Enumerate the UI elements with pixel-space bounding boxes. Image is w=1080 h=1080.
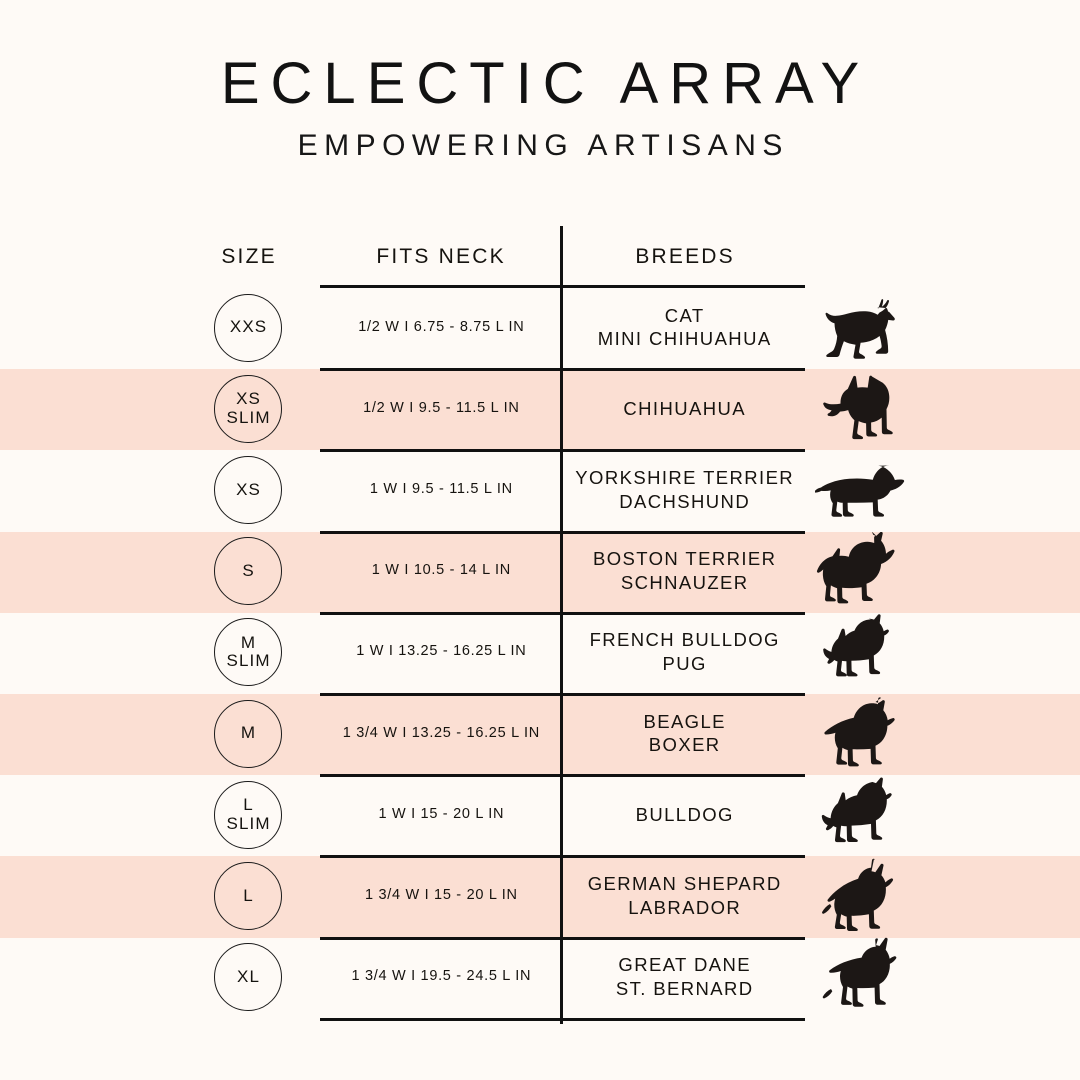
cat-silhouette bbox=[815, 290, 911, 366]
breeds-value: FRENCH BULLDOGPUG bbox=[563, 628, 805, 675]
fits-neck-value: 1 3/4 W I 15 - 20 L IN bbox=[322, 887, 560, 903]
schnauzer-silhouette bbox=[815, 533, 911, 609]
size-badge: XXS bbox=[214, 294, 282, 362]
size-label-primary: L bbox=[242, 887, 254, 905]
breed-line: LABRADOR bbox=[563, 896, 805, 920]
size-label-secondary: SLIM bbox=[225, 652, 270, 670]
breeds-value: BULLDOG bbox=[563, 803, 805, 827]
size-badge: LSLIM bbox=[214, 781, 282, 849]
chihuahua-silhouette bbox=[815, 371, 911, 447]
size-badge: S bbox=[214, 537, 282, 605]
size-label-primary: XS bbox=[235, 390, 261, 408]
table-row: XS1 W I 9.5 - 11.5 L INYORKSHIRE TERRIER… bbox=[0, 449, 1080, 530]
table-row: M1 3/4 W I 13.25 - 16.25 L INBEAGLEBOXER bbox=[0, 693, 1080, 774]
size-label-primary: XXS bbox=[229, 318, 267, 336]
breed-line: CAT bbox=[563, 304, 805, 328]
table-row: LSLIM1 W I 15 - 20 L INBULLDOG bbox=[0, 774, 1080, 855]
row-rule bbox=[320, 937, 805, 940]
breed-line: MINI CHIHUAHUA bbox=[563, 327, 805, 351]
breeds-value: CHIHUAHUA bbox=[563, 397, 805, 421]
size-badge: M bbox=[214, 700, 282, 768]
boxer-silhouette bbox=[815, 696, 911, 772]
breed-line: GERMAN SHEPARD bbox=[563, 872, 805, 896]
row-rule bbox=[320, 368, 805, 371]
breeds-value: YORKSHIRE TERRIERDACHSHUND bbox=[563, 466, 805, 513]
breed-line: DACHSHUND bbox=[563, 490, 805, 514]
column-header-breeds: BREEDS bbox=[563, 245, 805, 269]
breed-line: GREAT DANE bbox=[563, 953, 805, 977]
row-rule bbox=[320, 612, 805, 615]
great-dane-silhouette bbox=[815, 939, 911, 1015]
size-label-primary: XS bbox=[235, 481, 261, 499]
size-label-primary: L bbox=[242, 796, 254, 814]
breed-line: SCHNAUZER bbox=[563, 571, 805, 595]
breed-line: FRENCH BULLDOG bbox=[563, 628, 805, 652]
fits-neck-value: 1 3/4 W I 19.5 - 24.5 L IN bbox=[322, 968, 560, 984]
fits-neck-value: 1 3/4 W I 13.25 - 16.25 L IN bbox=[322, 725, 560, 741]
german-shepherd-silhouette bbox=[815, 858, 911, 934]
table-row: L1 3/4 W I 15 - 20 L INGERMAN SHEPARDLAB… bbox=[0, 855, 1080, 936]
table-row: XXS1/2 W I 6.75 - 8.75 L INCATMINI CHIHU… bbox=[0, 287, 1080, 368]
breed-line: CHIHUAHUA bbox=[563, 397, 805, 421]
size-label-primary: XL bbox=[236, 968, 260, 986]
breed-line: YORKSHIRE TERRIER bbox=[563, 466, 805, 490]
row-rule bbox=[320, 855, 805, 858]
breeds-value: GERMAN SHEPARDLABRADOR bbox=[563, 872, 805, 919]
row-rule bbox=[320, 449, 805, 452]
fits-neck-value: 1 W I 10.5 - 14 L IN bbox=[322, 562, 560, 578]
size-label-secondary: SLIM bbox=[225, 815, 270, 833]
breeds-value: BOSTON TERRIERSCHNAUZER bbox=[563, 547, 805, 594]
size-chart-page: ECLECTIC ARRAY EMPOWERING ARTISANS SIZE … bbox=[0, 0, 1080, 1080]
breed-line: BULLDOG bbox=[563, 803, 805, 827]
size-chart-table: SIZE FITS NECK BREEDS XXS1/2 W I 6.75 - … bbox=[0, 0, 1080, 1080]
fits-neck-value: 1/2 W I 6.75 - 8.75 L IN bbox=[322, 319, 560, 335]
fits-neck-value: 1 W I 15 - 20 L IN bbox=[322, 806, 560, 822]
size-label-secondary: SLIM bbox=[225, 409, 270, 427]
size-label-primary: M bbox=[240, 634, 256, 652]
breeds-value: BEAGLEBOXER bbox=[563, 710, 805, 757]
breed-line: BOXER bbox=[563, 733, 805, 757]
fits-neck-value: 1 W I 13.25 - 16.25 L IN bbox=[322, 643, 560, 659]
fits-neck-value: 1 W I 9.5 - 11.5 L IN bbox=[322, 481, 560, 497]
size-label-primary: S bbox=[241, 562, 255, 580]
size-badge: XL bbox=[214, 943, 282, 1011]
size-badge: L bbox=[214, 862, 282, 930]
breeds-value: GREAT DANEST. BERNARD bbox=[563, 953, 805, 1000]
row-rule bbox=[320, 693, 805, 696]
dachshund-silhouette bbox=[815, 452, 911, 528]
size-badge: MSLIM bbox=[214, 618, 282, 686]
size-label-primary: M bbox=[240, 724, 256, 742]
table-row: XL1 3/4 W I 19.5 - 24.5 L INGREAT DANEST… bbox=[0, 937, 1080, 1018]
row-rule bbox=[320, 531, 805, 534]
breed-line: BOSTON TERRIER bbox=[563, 547, 805, 571]
row-rule bbox=[320, 1018, 805, 1021]
bulldog-silhouette bbox=[815, 777, 911, 853]
breed-line: ST. BERNARD bbox=[563, 977, 805, 1001]
table-row: MSLIM1 W I 13.25 - 16.25 L INFRENCH BULL… bbox=[0, 612, 1080, 693]
breeds-value: CATMINI CHIHUAHUA bbox=[563, 304, 805, 351]
table-row: XSSLIM1/2 W I 9.5 - 11.5 L INCHIHUAHUA bbox=[0, 368, 1080, 449]
table-row: S1 W I 10.5 - 14 L INBOSTON TERRIERSCHNA… bbox=[0, 531, 1080, 612]
header-rule bbox=[320, 285, 805, 288]
column-header-neck: FITS NECK bbox=[320, 245, 560, 269]
pug-silhouette bbox=[815, 614, 911, 690]
fits-neck-value: 1/2 W I 9.5 - 11.5 L IN bbox=[322, 400, 560, 416]
breed-line: PUG bbox=[563, 652, 805, 676]
column-header-size: SIZE bbox=[200, 245, 296, 269]
size-badge: XSSLIM bbox=[214, 375, 282, 443]
row-rule bbox=[320, 774, 805, 777]
size-badge: XS bbox=[214, 456, 282, 524]
breed-line: BEAGLE bbox=[563, 710, 805, 734]
